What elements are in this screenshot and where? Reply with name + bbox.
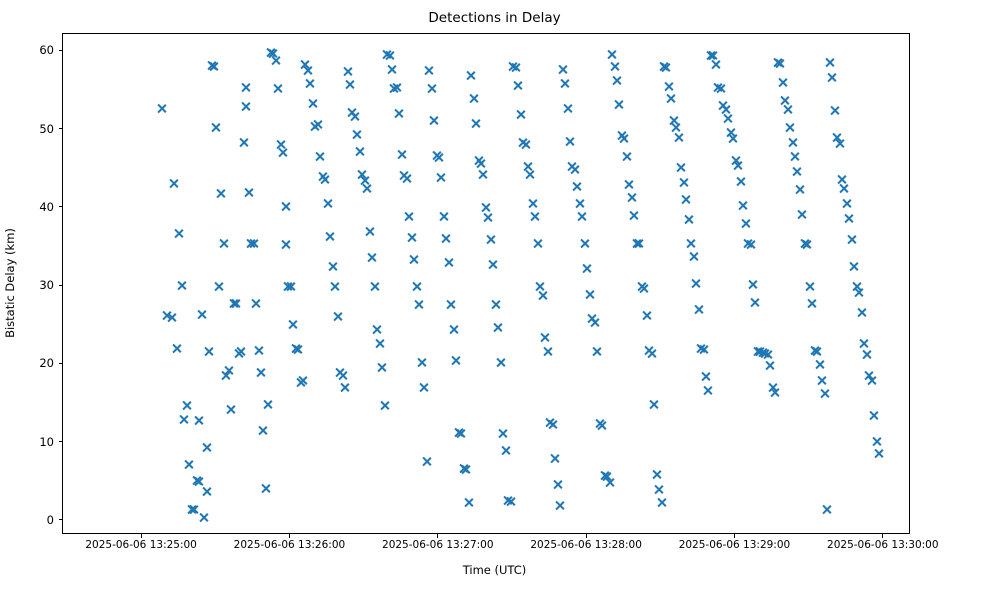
data-point bbox=[792, 166, 803, 177]
data-point bbox=[616, 130, 627, 141]
data-point bbox=[718, 100, 729, 111]
data-point bbox=[522, 161, 533, 172]
data-point bbox=[354, 146, 365, 157]
data-point bbox=[626, 192, 637, 203]
data-point bbox=[611, 75, 622, 86]
data-point bbox=[181, 400, 192, 411]
data-point bbox=[238, 137, 249, 148]
data-point bbox=[312, 119, 323, 130]
data-point bbox=[282, 281, 293, 292]
data-point bbox=[765, 360, 776, 371]
data-point bbox=[275, 139, 286, 150]
data-point bbox=[871, 436, 882, 447]
data-point bbox=[638, 283, 649, 294]
data-point bbox=[770, 387, 781, 398]
data-point bbox=[320, 174, 331, 185]
data-point bbox=[468, 93, 479, 104]
data-point bbox=[666, 93, 677, 104]
scatter-plot-area bbox=[63, 34, 909, 533]
data-point bbox=[216, 188, 227, 199]
x-tick-mark bbox=[141, 534, 142, 538]
data-point bbox=[542, 346, 553, 357]
data-point bbox=[347, 107, 358, 118]
data-point bbox=[698, 344, 709, 355]
data-point bbox=[401, 173, 412, 184]
data-point bbox=[253, 345, 264, 356]
data-point bbox=[641, 310, 652, 321]
data-point bbox=[510, 62, 521, 73]
data-point bbox=[589, 317, 600, 328]
data-point bbox=[619, 133, 630, 144]
data-point bbox=[750, 297, 761, 308]
data-point bbox=[302, 65, 313, 76]
data-point bbox=[198, 512, 209, 523]
data-point bbox=[634, 238, 645, 249]
data-point bbox=[604, 477, 615, 488]
x-tick-mark bbox=[586, 534, 587, 538]
data-point bbox=[688, 251, 699, 262]
data-point bbox=[196, 309, 207, 320]
data-point bbox=[443, 257, 454, 268]
data-point bbox=[579, 238, 590, 249]
data-point bbox=[676, 162, 687, 173]
data-point bbox=[342, 66, 353, 77]
chart-title: Detections in Delay bbox=[0, 10, 989, 26]
data-point bbox=[826, 72, 837, 83]
data-point bbox=[703, 385, 714, 396]
data-point bbox=[280, 239, 291, 250]
data-point bbox=[772, 57, 783, 68]
data-point bbox=[503, 495, 514, 506]
data-point bbox=[844, 213, 855, 224]
data-point bbox=[179, 414, 190, 425]
data-point bbox=[854, 287, 865, 298]
data-point bbox=[211, 122, 222, 133]
y-tick-label: 50 bbox=[0, 123, 54, 135]
data-point bbox=[863, 370, 874, 381]
data-point bbox=[678, 177, 689, 188]
data-point bbox=[545, 417, 556, 428]
data-point bbox=[344, 79, 355, 90]
data-point bbox=[577, 211, 588, 222]
data-point bbox=[821, 504, 832, 515]
data-point bbox=[364, 226, 375, 237]
data-point bbox=[609, 61, 620, 72]
data-point bbox=[300, 59, 311, 70]
data-point bbox=[557, 64, 568, 75]
data-point bbox=[213, 281, 224, 292]
data-point bbox=[169, 178, 180, 189]
data-point bbox=[784, 122, 795, 133]
data-point bbox=[834, 138, 845, 149]
data-point bbox=[287, 319, 298, 330]
data-point bbox=[399, 170, 410, 181]
data-point bbox=[325, 231, 336, 242]
data-point bbox=[866, 375, 877, 386]
data-point bbox=[233, 348, 244, 359]
data-point bbox=[221, 370, 232, 381]
data-point bbox=[547, 419, 558, 430]
data-point bbox=[406, 232, 417, 243]
data-point bbox=[488, 259, 499, 270]
data-point bbox=[327, 261, 338, 272]
data-point bbox=[656, 497, 667, 508]
data-point bbox=[381, 49, 392, 60]
data-point bbox=[671, 122, 682, 133]
data-point bbox=[329, 281, 340, 292]
data-point bbox=[732, 160, 743, 171]
data-point bbox=[369, 281, 380, 292]
data-point bbox=[720, 104, 731, 115]
data-point bbox=[451, 355, 462, 366]
data-point bbox=[594, 418, 605, 429]
chart-figure: Detections in Delay 0102030405060 2025-0… bbox=[0, 0, 989, 590]
data-point bbox=[176, 280, 187, 291]
data-point bbox=[681, 194, 692, 205]
data-point bbox=[334, 367, 345, 378]
data-point bbox=[478, 169, 489, 180]
data-point bbox=[525, 169, 536, 180]
x-tick-mark bbox=[289, 534, 290, 538]
data-point bbox=[624, 179, 635, 190]
data-point bbox=[658, 61, 669, 72]
data-point bbox=[263, 399, 274, 410]
data-point bbox=[814, 359, 825, 370]
data-point bbox=[223, 365, 234, 376]
data-point bbox=[606, 49, 617, 60]
data-point bbox=[260, 483, 271, 494]
data-point bbox=[708, 50, 719, 61]
data-point bbox=[631, 238, 642, 249]
x-tick-label: 2025-06-06 13:29:00 bbox=[679, 539, 791, 552]
y-tick-label: 40 bbox=[0, 201, 54, 213]
data-point bbox=[762, 349, 773, 360]
data-point bbox=[339, 382, 350, 393]
data-point bbox=[599, 470, 610, 481]
data-point bbox=[574, 198, 585, 209]
data-point bbox=[532, 238, 543, 249]
data-point bbox=[873, 448, 884, 459]
data-point bbox=[663, 81, 674, 92]
data-point bbox=[193, 415, 204, 426]
data-point bbox=[384, 50, 395, 61]
data-point bbox=[512, 80, 523, 91]
data-point bbox=[376, 362, 387, 373]
data-point bbox=[661, 62, 672, 73]
data-point bbox=[859, 338, 870, 349]
data-point bbox=[648, 399, 659, 410]
data-point bbox=[411, 281, 422, 292]
x-axis-label: Time (UTC) bbox=[0, 563, 989, 577]
data-point bbox=[456, 428, 467, 439]
data-point bbox=[480, 202, 491, 213]
data-point bbox=[651, 469, 662, 480]
data-point bbox=[218, 238, 229, 249]
data-point bbox=[258, 425, 269, 436]
data-point bbox=[554, 500, 565, 511]
data-point bbox=[490, 299, 501, 310]
data-point bbox=[540, 332, 551, 343]
plot-axes bbox=[62, 33, 910, 534]
data-point bbox=[752, 346, 763, 357]
data-point bbox=[285, 281, 296, 292]
data-point bbox=[465, 70, 476, 81]
data-point bbox=[730, 155, 741, 166]
data-point bbox=[710, 59, 721, 70]
data-point bbox=[552, 479, 563, 490]
data-point bbox=[161, 310, 172, 321]
data-point bbox=[315, 151, 326, 162]
data-point bbox=[587, 313, 598, 324]
data-point bbox=[428, 115, 439, 126]
data-point bbox=[332, 311, 343, 322]
y-tick-label: 60 bbox=[0, 44, 54, 56]
data-point bbox=[426, 83, 437, 94]
data-point bbox=[715, 83, 726, 94]
data-point bbox=[379, 400, 390, 411]
data-point bbox=[831, 132, 842, 143]
data-point bbox=[243, 187, 254, 198]
data-point bbox=[460, 464, 471, 475]
data-point bbox=[458, 463, 469, 474]
y-axis-label: Bistatic Delay (km) bbox=[3, 228, 17, 338]
data-point bbox=[868, 410, 879, 421]
data-point bbox=[757, 347, 768, 358]
data-point bbox=[767, 382, 778, 393]
data-point bbox=[537, 290, 548, 301]
data-point bbox=[493, 322, 504, 333]
data-point bbox=[849, 261, 860, 272]
data-point bbox=[245, 238, 256, 249]
data-point bbox=[337, 370, 348, 381]
y-tick-label: 0 bbox=[0, 514, 54, 526]
data-point bbox=[782, 104, 793, 115]
data-point bbox=[483, 212, 494, 223]
data-point bbox=[297, 375, 308, 386]
data-point bbox=[668, 115, 679, 126]
data-point bbox=[559, 78, 570, 89]
data-point bbox=[614, 99, 625, 110]
data-point bbox=[473, 155, 484, 166]
data-point bbox=[273, 83, 284, 94]
data-point bbox=[505, 496, 516, 507]
data-point bbox=[861, 349, 872, 360]
data-point bbox=[292, 344, 303, 355]
data-point bbox=[436, 172, 447, 183]
data-point bbox=[564, 136, 575, 147]
data-point bbox=[774, 58, 785, 69]
data-point bbox=[485, 234, 496, 245]
data-point bbox=[206, 60, 217, 71]
data-point bbox=[416, 357, 427, 368]
data-point bbox=[391, 82, 402, 93]
data-point bbox=[240, 82, 251, 93]
x-tick-label: 2025-06-06 13:28:00 bbox=[530, 539, 642, 552]
data-point bbox=[226, 404, 237, 415]
data-point bbox=[755, 346, 766, 357]
data-point bbox=[799, 238, 810, 249]
data-point bbox=[705, 50, 716, 61]
data-point bbox=[582, 263, 593, 274]
data-point bbox=[760, 348, 771, 359]
data-point bbox=[193, 476, 204, 487]
data-point bbox=[817, 375, 828, 386]
data-point bbox=[421, 456, 432, 467]
data-point bbox=[184, 459, 195, 470]
data-point bbox=[418, 382, 429, 393]
data-point bbox=[789, 151, 800, 162]
data-point bbox=[507, 61, 518, 72]
data-point bbox=[265, 47, 276, 58]
data-point bbox=[414, 299, 425, 310]
data-point bbox=[802, 239, 813, 250]
data-point bbox=[307, 98, 318, 109]
data-point bbox=[374, 338, 385, 349]
data-point bbox=[812, 346, 823, 357]
data-point bbox=[470, 118, 481, 129]
data-point bbox=[448, 324, 459, 335]
data-point bbox=[310, 121, 321, 132]
data-point bbox=[268, 48, 279, 59]
data-point bbox=[596, 420, 607, 431]
data-point bbox=[186, 504, 197, 515]
data-point bbox=[777, 77, 788, 88]
data-point bbox=[695, 343, 706, 354]
data-point bbox=[515, 109, 526, 120]
data-point bbox=[839, 183, 850, 194]
data-point bbox=[270, 55, 281, 66]
data-point bbox=[498, 428, 509, 439]
data-point bbox=[779, 95, 790, 106]
data-point bbox=[841, 198, 852, 209]
data-point bbox=[446, 299, 457, 310]
data-point bbox=[240, 101, 251, 112]
x-tick-label: 2025-06-06 13:30:00 bbox=[827, 539, 939, 552]
data-point bbox=[530, 211, 541, 222]
data-point bbox=[584, 289, 595, 300]
data-point bbox=[171, 343, 182, 354]
data-point bbox=[389, 83, 400, 94]
data-point bbox=[713, 82, 724, 93]
data-point bbox=[549, 453, 560, 464]
data-point bbox=[409, 254, 420, 265]
data-point bbox=[201, 486, 212, 497]
data-point bbox=[438, 211, 449, 222]
data-point bbox=[535, 281, 546, 292]
data-point bbox=[305, 78, 316, 89]
data-point bbox=[174, 228, 185, 239]
data-point bbox=[797, 209, 808, 220]
data-point bbox=[621, 151, 632, 162]
data-point bbox=[500, 445, 511, 456]
data-point bbox=[846, 234, 857, 245]
y-tick-label: 20 bbox=[0, 357, 54, 369]
data-point bbox=[441, 233, 452, 244]
data-point bbox=[747, 279, 758, 290]
data-point bbox=[228, 298, 239, 309]
data-point bbox=[278, 147, 289, 158]
data-point bbox=[683, 214, 694, 225]
data-point bbox=[357, 169, 368, 180]
data-point bbox=[673, 132, 684, 143]
data-point bbox=[386, 64, 397, 75]
data-point bbox=[280, 201, 291, 212]
data-point bbox=[208, 61, 219, 72]
x-tick-label: 2025-06-06 13:27:00 bbox=[382, 539, 494, 552]
data-point bbox=[562, 103, 573, 114]
data-point bbox=[735, 176, 746, 187]
data-point bbox=[569, 164, 580, 175]
data-point bbox=[371, 324, 382, 335]
data-point bbox=[807, 298, 818, 309]
data-point bbox=[463, 497, 474, 508]
data-point bbox=[517, 137, 528, 148]
data-point bbox=[819, 388, 830, 399]
data-point bbox=[191, 475, 202, 486]
x-tick-mark bbox=[882, 534, 883, 538]
data-point bbox=[156, 103, 167, 114]
data-point bbox=[322, 198, 333, 209]
data-point bbox=[740, 218, 751, 229]
data-point bbox=[404, 211, 415, 222]
data-point bbox=[166, 312, 177, 323]
data-point bbox=[250, 298, 261, 309]
data-point bbox=[742, 238, 753, 249]
x-tick-mark bbox=[437, 534, 438, 538]
y-tick-label: 10 bbox=[0, 436, 54, 448]
data-point bbox=[352, 129, 363, 140]
data-point bbox=[495, 357, 506, 368]
data-point bbox=[317, 171, 328, 182]
data-point bbox=[690, 278, 701, 289]
data-point bbox=[453, 427, 464, 438]
data-point bbox=[520, 139, 531, 150]
data-point bbox=[804, 281, 815, 292]
x-tick-label: 2025-06-06 13:26:00 bbox=[234, 539, 346, 552]
data-point bbox=[567, 161, 578, 172]
data-point bbox=[359, 175, 370, 186]
data-point bbox=[646, 348, 657, 359]
data-point bbox=[475, 158, 486, 169]
data-point bbox=[527, 198, 538, 209]
data-point bbox=[685, 238, 696, 249]
x-tick-label: 2025-06-06 13:25:00 bbox=[85, 539, 197, 552]
data-point bbox=[787, 137, 798, 148]
data-point bbox=[572, 181, 583, 192]
data-point bbox=[737, 200, 748, 211]
data-point bbox=[248, 238, 259, 249]
data-point bbox=[231, 298, 242, 309]
data-point bbox=[349, 111, 360, 122]
data-point bbox=[643, 345, 654, 356]
data-point bbox=[423, 65, 434, 76]
data-point bbox=[592, 346, 603, 357]
data-point bbox=[636, 281, 647, 292]
data-point bbox=[829, 105, 840, 116]
data-point bbox=[255, 367, 266, 378]
data-point bbox=[431, 150, 442, 161]
data-point bbox=[295, 377, 306, 388]
data-point bbox=[723, 113, 734, 124]
data-point bbox=[629, 210, 640, 221]
data-point bbox=[824, 57, 835, 68]
data-point bbox=[236, 346, 247, 357]
data-point bbox=[201, 442, 212, 453]
data-point bbox=[727, 133, 738, 144]
data-point bbox=[809, 345, 820, 356]
data-point bbox=[794, 184, 805, 195]
x-tick-mark bbox=[734, 534, 735, 538]
